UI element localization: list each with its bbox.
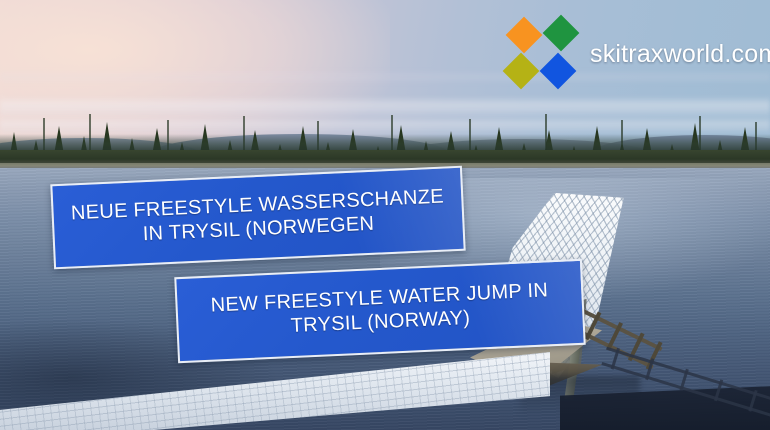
screenshot-canvas: skitraxworld.com NEUE FREESTYLE WASSERSC… (0, 0, 770, 430)
olive-diamond-icon (503, 53, 540, 90)
diamond-logo-mark (500, 13, 586, 95)
orange-diamond-icon (506, 17, 543, 54)
green-diamond-icon (543, 15, 580, 52)
site-logo[interactable]: skitraxworld.com (500, 12, 770, 96)
blue-diamond-icon (540, 53, 577, 90)
headline-banner-german-text: NEUE FREESTYLE WASSERSCHANZE IN TRYSIL (… (60, 185, 455, 250)
headline-banner-english-text: NEW FREESTYLE WATER JUMP IN TRYSIL (NORW… (200, 279, 560, 342)
site-name-text: skitraxworld.com (590, 40, 770, 69)
